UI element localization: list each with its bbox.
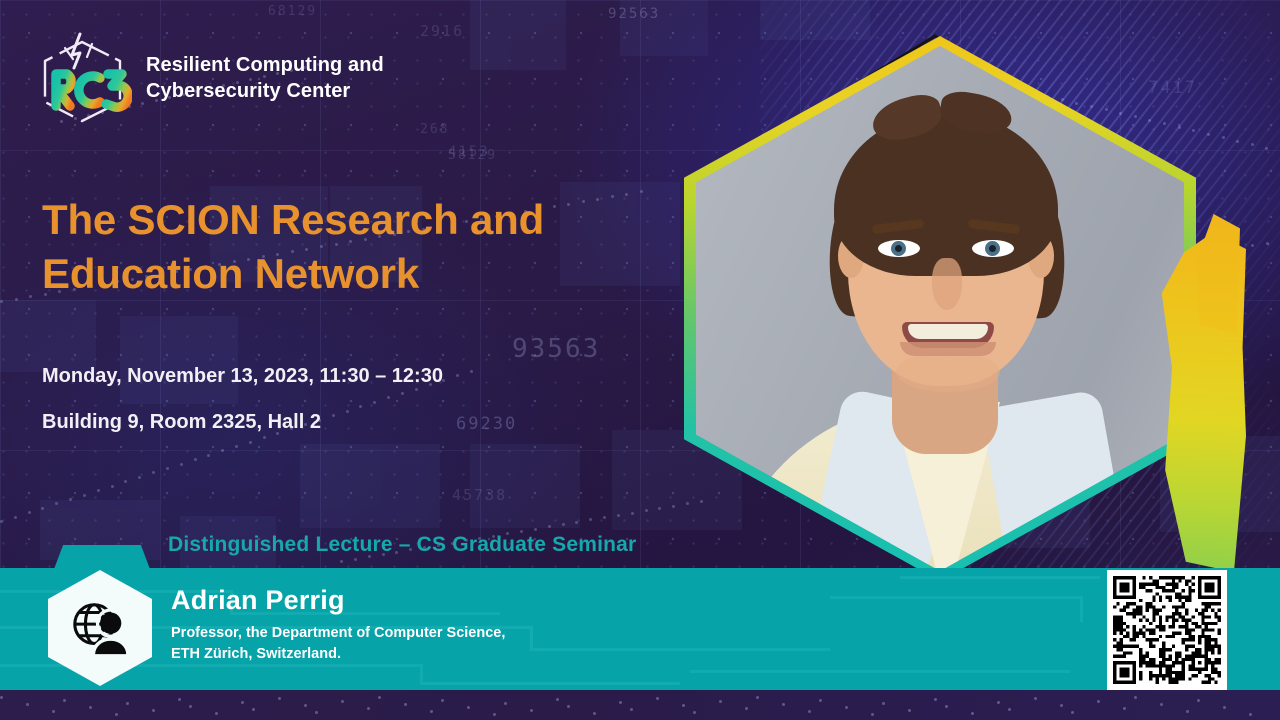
title-line-1: The SCION Research and: [42, 193, 642, 247]
speaker-title-line-1: Professor, the Department of Computer Sc…: [171, 623, 505, 644]
title-line-2: Education Network: [42, 247, 642, 301]
speaker-name: Adrian Perrig: [171, 585, 345, 616]
rc3-logo-text: Resilient Computing and Cybersecurity Ce…: [146, 52, 384, 105]
event-location: Building 9, Room 2325, Hall 2: [42, 412, 443, 432]
event-series-label: Distinguished Lecture – CS Graduate Semi…: [168, 533, 636, 557]
speaker-title: Professor, the Department of Computer Sc…: [171, 623, 505, 664]
bottom-strip: [0, 690, 1280, 720]
rc3-name-line1: Resilient Computing and: [146, 52, 384, 78]
rc3-logo-mark: [36, 28, 132, 128]
qr-code[interactable]: [1107, 570, 1227, 690]
event-datetime: Monday, November 13, 2023, 11:30 – 12:30: [42, 366, 443, 386]
rc3-logo: Resilient Computing and Cybersecurity Ce…: [36, 28, 384, 128]
rc3-name-line2: Cybersecurity Center: [146, 78, 384, 104]
seminar-poster: 6812992563291674174153268935635812969230…: [0, 0, 1280, 720]
event-details: Monday, November 13, 2023, 11:30 – 12:30…: [42, 366, 443, 432]
page-title: The SCION Research and Education Network: [42, 193, 642, 301]
speaker-title-line-2: ETH Zürich, Switzerland.: [171, 644, 505, 665]
